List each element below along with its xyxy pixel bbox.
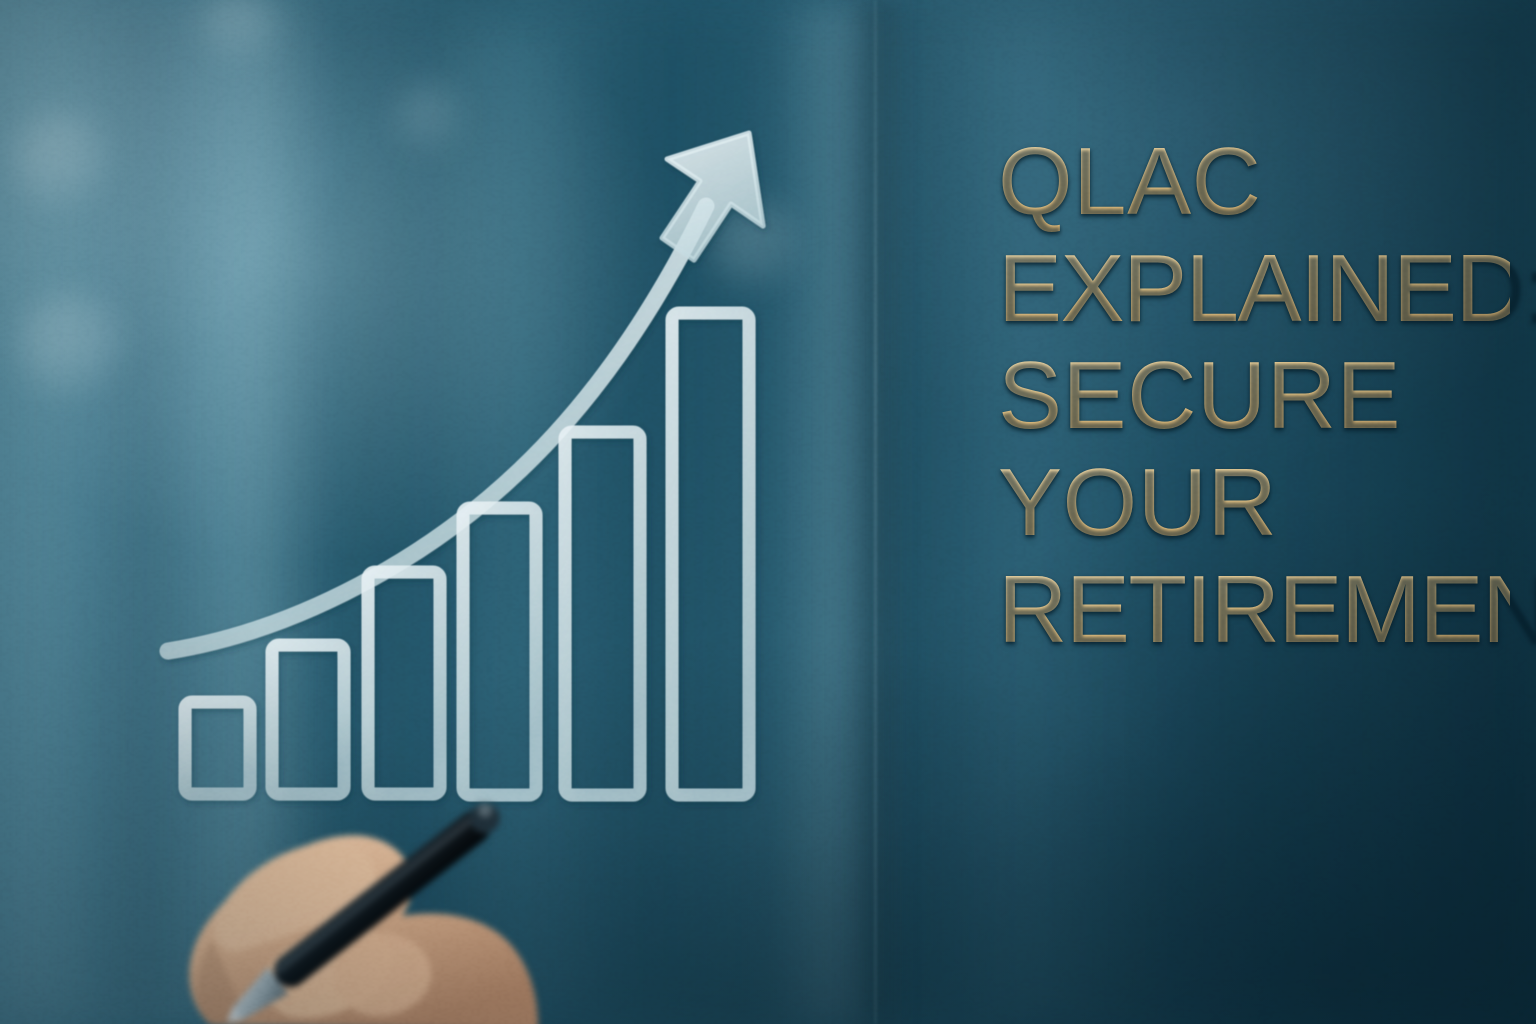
film-grain-overlay	[0, 0, 1536, 1024]
hero-banner: QLAC EXPLAINED: SECURE YOUR RETIREMENT	[0, 0, 1536, 1024]
